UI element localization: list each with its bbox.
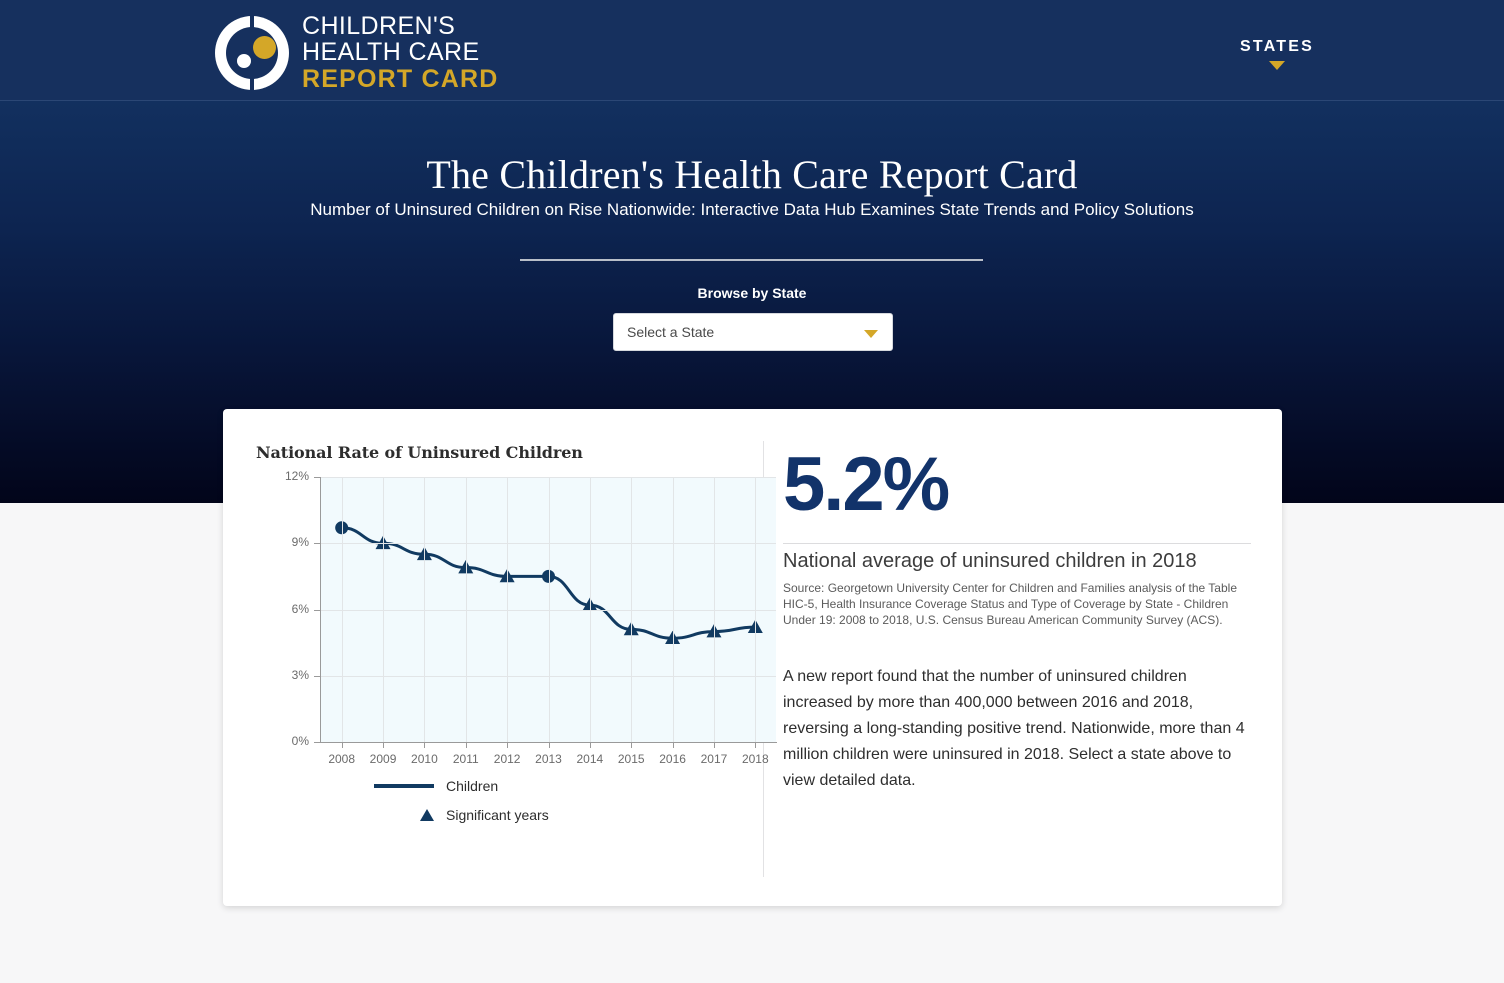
chart-x-tick-mark xyxy=(755,742,756,748)
chart-x-tick-mark xyxy=(590,742,591,748)
chart-title: National Rate of Uninsured Children xyxy=(256,443,583,462)
chart-x-tick-label: 2012 xyxy=(485,752,529,766)
browse-by-state-label: Browse by State xyxy=(0,285,1504,301)
chart-x-tick-label: 2008 xyxy=(320,752,364,766)
chart-legend: Children Significant years xyxy=(256,771,746,829)
state-select-value: Select a State xyxy=(627,324,714,340)
chart-x-tick-mark xyxy=(383,742,384,748)
chart-y-tick-label: 3% xyxy=(259,668,309,682)
logo-gold-dot-shape xyxy=(253,36,276,59)
chart-x-tick-mark xyxy=(673,742,674,748)
chevron-down-icon xyxy=(864,330,878,338)
chart-x-tick-label: 2018 xyxy=(733,752,777,766)
chart-gridline-vertical xyxy=(466,477,467,742)
uninsured-children-line-chart[interactable]: 0%3%6%9%12%20082009201020112012201320142… xyxy=(256,469,746,769)
legend-triangle-swatch xyxy=(256,809,446,821)
chart-gridline-vertical xyxy=(507,477,508,742)
chart-x-tick-label: 2014 xyxy=(568,752,612,766)
page-title: The Children's Health Care Report Card xyxy=(0,151,1504,198)
chart-x-tick-mark xyxy=(714,742,715,748)
report-card-logo-icon xyxy=(215,16,289,90)
chart-x-tick-mark xyxy=(466,742,467,748)
chart-x-tick-label: 2015 xyxy=(609,752,653,766)
chart-x-tick-label: 2017 xyxy=(692,752,736,766)
logo-slit-bottom-shape xyxy=(250,77,254,91)
chart-x-tick-mark xyxy=(549,742,550,748)
chart-x-tick-label: 2016 xyxy=(651,752,695,766)
nav-states-label: STATES xyxy=(1240,38,1314,56)
chart-y-tick-label: 6% xyxy=(259,602,309,616)
chart-gridline-vertical xyxy=(714,477,715,742)
chart-y-tick-label: 12% xyxy=(259,469,309,483)
hero-divider xyxy=(520,259,983,261)
page-subtitle: Number of Uninsured Children on Rise Nat… xyxy=(0,200,1504,220)
chart-gridline-vertical xyxy=(673,477,674,742)
logo-wordmark: CHILDREN'S HEALTH CARE REPORT CARD xyxy=(302,14,499,92)
chart-x-tick-label: 2010 xyxy=(402,752,446,766)
chart-y-tick-label: 0% xyxy=(259,734,309,748)
stat-caption: National average of uninsured children i… xyxy=(783,550,1197,573)
legend-label: Children xyxy=(446,778,498,794)
chart-y-tick-mark xyxy=(314,742,321,743)
stat-divider xyxy=(783,543,1251,544)
chart-x-tick-label: 2011 xyxy=(444,752,488,766)
chart-y-tick-mark xyxy=(314,477,321,478)
stat-source-note: Source: Georgetown University Center for… xyxy=(783,580,1253,629)
chart-gridline-vertical xyxy=(383,477,384,742)
brand-logo[interactable]: CHILDREN'S HEALTH CARE REPORT CARD xyxy=(215,14,499,92)
logo-line-1: CHILDREN'S xyxy=(302,14,499,39)
logo-line-2: HEALTH CARE xyxy=(302,40,499,65)
logo-white-dot-shape xyxy=(237,54,251,68)
chart-x-tick-mark xyxy=(631,742,632,748)
chart-gridline-vertical xyxy=(342,477,343,742)
chart-x-tick-mark xyxy=(424,742,425,748)
state-select-dropdown[interactable]: Select a State xyxy=(613,313,893,351)
chart-x-tick-label: 2009 xyxy=(361,752,405,766)
chart-y-tick-mark xyxy=(314,610,321,611)
legend-item-children: Children xyxy=(256,771,746,800)
chart-gridline-vertical xyxy=(631,477,632,742)
logo-slit-top-shape xyxy=(250,15,254,29)
logo-line-3: REPORT CARD xyxy=(302,67,499,92)
chart-gridline-vertical xyxy=(755,477,756,742)
legend-item-significant-years: Significant years xyxy=(256,800,746,829)
chart-x-tick-mark xyxy=(342,742,343,748)
chart-x-tick-label: 2013 xyxy=(527,752,571,766)
chart-gridline-vertical xyxy=(424,477,425,742)
legend-line-swatch xyxy=(256,784,446,788)
data-card: National Rate of Uninsured Children 0%3%… xyxy=(223,409,1282,906)
chart-y-tick-mark xyxy=(314,676,321,677)
chart-gridline-vertical xyxy=(590,477,591,742)
card-body-text: A new report found that the number of un… xyxy=(783,664,1253,794)
chart-gridline-vertical xyxy=(549,477,550,742)
chart-y-tick-label: 9% xyxy=(259,535,309,549)
chart-y-tick-mark xyxy=(314,543,321,544)
nav-item-states[interactable]: STATES xyxy=(1240,38,1314,70)
chevron-down-icon xyxy=(1269,61,1285,70)
legend-label: Significant years xyxy=(446,807,549,823)
chart-x-tick-mark xyxy=(507,742,508,748)
stat-value: 5.2% xyxy=(783,447,948,523)
site-header: CHILDREN'S HEALTH CARE REPORT CARD STATE… xyxy=(0,0,1504,101)
